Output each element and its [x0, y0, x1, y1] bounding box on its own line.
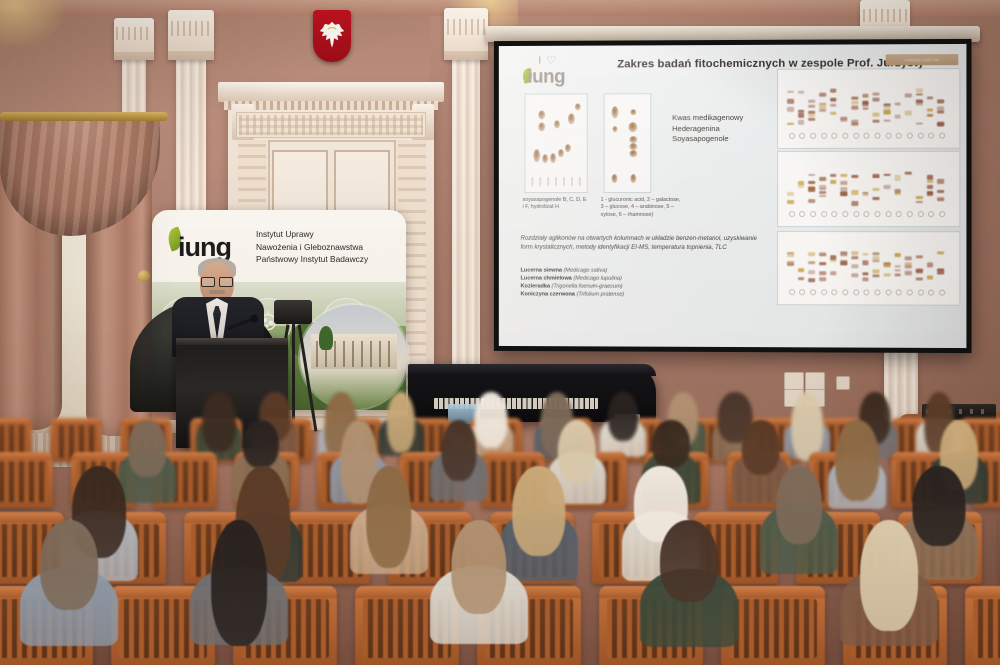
pilaster-capital-left	[114, 18, 154, 60]
chair-top-rail	[481, 452, 545, 460]
tlc-band	[798, 181, 805, 184]
chair-slats	[973, 599, 1000, 658]
presentation-slide: I ♡ iung Zakres badań fitochemicznych w …	[499, 44, 967, 348]
pilaster-capital-left-inner	[168, 10, 214, 60]
tlc-origin-dot	[821, 289, 827, 295]
tlc-band	[884, 108, 891, 113]
tlc-origin-dot	[789, 211, 795, 217]
glasses-lens-left	[201, 277, 215, 287]
tlc-band	[916, 255, 923, 258]
tlc-band	[841, 192, 848, 197]
tlc-band	[862, 261, 869, 265]
tlc-spot	[628, 122, 637, 132]
tlc-band	[894, 273, 901, 276]
tlc-spot	[558, 149, 564, 157]
banner-line: Nawożenia i Gleboznawstwa	[256, 241, 368, 254]
tlc-band	[927, 275, 934, 280]
tlc-band	[798, 91, 805, 93]
tlc-band	[884, 263, 891, 267]
tlc-band	[808, 180, 815, 184]
tlc-band	[927, 109, 934, 112]
tlc-band	[873, 197, 880, 200]
species-row: Kozieradka (Trigonella foenum-graecum)	[521, 283, 625, 291]
tlc-band	[927, 192, 934, 196]
tlc-band	[851, 201, 858, 206]
tlc-band	[905, 257, 912, 261]
door-cornice	[218, 82, 444, 102]
tlc-origin-dot	[885, 211, 891, 217]
tlc-origin-dot	[842, 211, 848, 217]
tlc-band	[819, 93, 826, 97]
tlc-origin-dot	[885, 133, 891, 139]
audience-head	[366, 466, 411, 568]
tlc-band	[819, 109, 826, 112]
tlc-band	[916, 99, 923, 103]
tlc-band	[787, 253, 794, 257]
species-name-lat: (Medicago lupulina)	[573, 276, 621, 282]
aglycone-item: Kwas medikagenowy	[672, 113, 743, 124]
tlc-band	[894, 114, 901, 118]
tlc-origin-dot	[939, 290, 945, 296]
audience-head	[608, 392, 638, 441]
tlc-band	[894, 189, 901, 193]
tlc-band	[937, 268, 944, 271]
tlc-band	[819, 104, 826, 108]
tlc-band	[873, 274, 880, 277]
video-camera	[274, 300, 312, 324]
tlc-band	[894, 253, 901, 257]
tlc-band	[830, 103, 837, 107]
chair-slats	[0, 461, 48, 502]
tlc-band	[851, 256, 858, 260]
tlc-band	[787, 107, 794, 112]
tlc-band	[819, 262, 826, 265]
audience-head	[211, 520, 267, 646]
tlc-band	[894, 265, 901, 267]
tlc-band	[851, 251, 858, 255]
audience-head	[451, 520, 506, 614]
tlc-band	[798, 113, 805, 118]
audience-member	[350, 466, 428, 585]
white-eagle-icon	[318, 19, 346, 49]
tlc-origin-dot	[842, 289, 848, 295]
species-name-lat: (Trifolium pratense)	[576, 292, 624, 298]
conference-hall-photo: I ♡ iung Zakres badań fitochemicznych w …	[0, 0, 1000, 665]
audience-member	[760, 466, 838, 585]
tlc-band	[927, 96, 934, 100]
projection-screen: I ♡ iung Zakres badań fitochemicznych w …	[494, 39, 972, 353]
tripod-leg	[298, 324, 318, 431]
tlc-band	[808, 253, 815, 256]
aglycone-item: Soyasapogenole	[672, 134, 743, 145]
tlc-spot	[568, 113, 575, 124]
tlc-band	[819, 195, 826, 197]
tlc-band	[862, 192, 869, 194]
tlc-band	[884, 103, 891, 107]
tlc-band	[873, 174, 880, 178]
chair-top-rail	[0, 418, 32, 425]
tlc-band	[841, 174, 848, 176]
tlc-spot	[629, 143, 637, 150]
tlc-origin-dot	[907, 289, 913, 295]
tlc-origin-dot	[917, 133, 923, 139]
chair	[0, 452, 53, 508]
aglycone-item: Hederagenina	[672, 123, 743, 134]
tlc-band	[851, 190, 858, 195]
tlc-band	[808, 270, 815, 274]
tlc-band	[808, 199, 815, 204]
tlc-band	[937, 190, 944, 193]
tlc-band	[905, 94, 912, 98]
tlc-origin-dot	[810, 133, 816, 139]
pilaster-center	[452, 58, 480, 388]
aglycone-list: Kwas medikagenowy Hederagenina Soyasapog…	[672, 113, 743, 145]
tlc-band	[830, 89, 837, 93]
audience-head	[835, 420, 879, 501]
tlc-origin-dot	[917, 211, 923, 217]
tlc-band	[841, 251, 848, 254]
tlc-band	[798, 110, 805, 113]
tlc-band	[819, 253, 826, 256]
tlc-band	[830, 99, 837, 102]
tlc-band	[851, 175, 858, 178]
tlc-band	[873, 259, 880, 262]
chair-top-rail	[50, 418, 102, 425]
wall-outlets[interactable]	[784, 372, 826, 390]
tlc-band	[916, 201, 923, 203]
tlc-origin-dot	[853, 133, 859, 139]
tlc-band	[808, 104, 815, 107]
tlc-band	[916, 268, 923, 272]
tlc-band	[862, 272, 869, 275]
tlc-band	[851, 273, 858, 277]
tlc-spot	[613, 126, 618, 132]
species-list: Lucerna siewna (Medicago sativa) Lucerna…	[521, 267, 625, 299]
speaker-mustache	[209, 290, 225, 294]
tlc-band	[819, 191, 826, 194]
tlc-band	[937, 99, 944, 103]
tlc-band	[798, 277, 805, 280]
tlc-origin-dot	[810, 211, 816, 217]
tlc-band	[884, 273, 891, 277]
audience-member	[190, 520, 288, 658]
banner-institute-name: Instytut Uprawy Nawożenia i Gleboznawstw…	[256, 228, 368, 266]
audience-head	[652, 420, 690, 468]
tlc-band	[905, 111, 912, 116]
tlc-band	[937, 179, 944, 184]
tlc-spot	[538, 122, 545, 131]
polish-coat-of-arms	[313, 10, 351, 62]
method-note: Rozdziały aglikonów na otwartych kolumna…	[521, 235, 769, 252]
tlc-band	[873, 269, 880, 273]
species-row: Lucerna siewna (Medicago sativa)	[521, 267, 625, 275]
slide-iung-logo: I ♡ iung	[522, 54, 605, 92]
species-name-pl: Lucerna siewna	[521, 268, 562, 274]
audience-member	[840, 520, 938, 661]
tlc-band	[851, 264, 858, 269]
tlc-band	[808, 99, 815, 103]
audience-head	[441, 420, 476, 481]
tlc-spot	[629, 136, 637, 143]
light-switch[interactable]	[836, 376, 850, 390]
tlc-spot	[630, 174, 636, 183]
tlc-spot	[612, 174, 618, 183]
caption-right: 1 - glucuronic acid, 2 – galactose, 3 – …	[601, 197, 682, 219]
species-name-pl: Lucerna chmielowa	[521, 276, 572, 282]
tlc-band	[830, 112, 837, 115]
pilaster-capital-center	[444, 8, 488, 60]
tlc-spot	[629, 150, 637, 157]
tlc-panel-b	[604, 93, 652, 193]
tlc-plate-bands	[499, 44, 967, 46]
tlc-band	[819, 277, 826, 281]
species-row: Lucerna chmielowa (Medicago lupulina)	[521, 275, 625, 283]
tlc-spot	[554, 120, 560, 128]
audience-member	[640, 520, 738, 661]
glasses-lens-right	[219, 277, 233, 287]
tlc-band	[830, 180, 837, 185]
tlc-origin-dot	[789, 133, 795, 139]
outlet-2[interactable]	[805, 372, 825, 390]
tlc-band	[927, 180, 934, 183]
tlc-band	[808, 117, 815, 120]
tlc-origin-dot	[874, 133, 880, 139]
tlc-origin-dot	[821, 133, 827, 139]
tlc-band	[873, 187, 880, 191]
tlc-band	[787, 261, 794, 266]
tlc-band	[830, 271, 837, 275]
tlc-axis-labels	[531, 177, 580, 186]
tlc-origin-dot	[907, 133, 913, 139]
glasses-icon	[201, 277, 233, 285]
tlc-band	[851, 101, 858, 104]
tlc-band	[798, 184, 805, 188]
audience-head	[243, 420, 279, 468]
tlc-band	[841, 187, 848, 191]
tlc-origin-dot	[939, 211, 945, 217]
tlc-spot	[630, 109, 636, 115]
tlc-band	[798, 120, 805, 124]
tlc-band	[937, 198, 944, 201]
tlc-band	[894, 269, 901, 271]
tlc-band	[927, 114, 934, 116]
tlc-band	[819, 271, 826, 275]
tlc-band	[862, 253, 869, 255]
tlc-band	[937, 121, 944, 126]
tlc-band	[937, 110, 944, 114]
species-row: Koniczyna czerwona (Trifolium pratense)	[521, 291, 625, 299]
tlc-band	[787, 91, 794, 93]
tlc-band	[787, 192, 794, 196]
tlc-origin-dot	[917, 290, 923, 296]
tlc-band	[862, 100, 869, 105]
slide-logo-heart: I ♡	[538, 54, 557, 67]
caption-left: soyasapogenole B, C, D, E i F, hydroliza…	[522, 197, 587, 212]
slide-corner-badge-text: Kolekcja IUNG PIB	[886, 54, 959, 65]
banner-line: Państwowy Instytut Badawczy	[256, 253, 368, 266]
tlc-spot	[542, 154, 548, 163]
tlc-band	[884, 185, 891, 189]
tlc-band	[862, 278, 869, 282]
audience-member	[20, 520, 118, 660]
tlc-band	[873, 256, 880, 260]
tlc-origin-dot	[907, 211, 913, 217]
tlc-band	[884, 119, 891, 121]
tlc-spot	[565, 144, 571, 152]
tlc-origin-dot	[885, 289, 891, 295]
tlc-band	[905, 265, 912, 269]
tlc-origin-dot	[939, 133, 945, 139]
tlc-origin-dot	[821, 211, 827, 217]
species-name-lat: (Trigonella foenum-graecum)	[552, 284, 623, 290]
tlc-band	[787, 200, 794, 205]
tlc-band	[851, 96, 858, 99]
tlc-band	[916, 93, 923, 95]
tlc-band	[787, 99, 794, 104]
audience-head	[791, 392, 823, 461]
audience-head	[776, 466, 822, 544]
tlc-band	[916, 196, 923, 199]
door-dentil-molding	[224, 101, 438, 110]
tlc-band	[808, 187, 815, 192]
tlc-origin-dot	[853, 211, 859, 217]
tlc-band	[841, 261, 848, 265]
tlc-band	[830, 174, 837, 177]
curtain-tieback	[138, 270, 150, 282]
tlc-band	[841, 180, 848, 185]
tlc-band	[916, 88, 923, 92]
tlc-band	[937, 251, 944, 254]
tlc-band	[841, 117, 848, 120]
chair-top-rail	[0, 452, 53, 460]
audience-head	[387, 392, 415, 453]
species-name-pl: Kozieradka	[521, 284, 550, 290]
chair-slats	[729, 599, 816, 658]
tlc-band	[808, 262, 815, 265]
audience-member	[430, 520, 528, 658]
tlc-spot	[575, 103, 581, 110]
tlc-band	[873, 120, 880, 123]
tlc-spot	[612, 106, 619, 118]
tlc-band	[894, 177, 901, 181]
tlc-band	[873, 93, 880, 96]
tlc-spot	[550, 153, 556, 163]
tlc-spot	[533, 149, 540, 162]
audience-head	[860, 520, 918, 631]
tlc-band	[927, 262, 934, 267]
audience-head	[202, 392, 236, 452]
tlc-origin-dot	[874, 211, 880, 217]
tlc-band	[894, 102, 901, 105]
audience-head	[660, 520, 718, 602]
tlc-band	[808, 174, 815, 176]
audience-head	[40, 520, 98, 610]
tlc-band	[884, 173, 891, 176]
door-frieze-ornament	[236, 112, 426, 138]
outlet-1[interactable]	[784, 372, 804, 390]
tlc-band	[894, 175, 901, 177]
tlc-band	[862, 93, 869, 97]
tlc-band	[830, 259, 837, 262]
tlc-origin-dot	[874, 289, 880, 295]
tlc-band	[873, 112, 880, 117]
tlc-band	[851, 106, 858, 110]
tlc-spot	[538, 110, 545, 119]
tlc-band	[905, 172, 912, 175]
tlc-panel-a	[524, 93, 587, 193]
tlc-origin-dot	[810, 289, 816, 295]
tlc-band	[916, 277, 923, 280]
tlc-band	[851, 119, 858, 124]
tlc-band	[808, 114, 815, 117]
tlc-band	[819, 185, 826, 189]
tlc-band	[808, 111, 815, 114]
tlc-band	[819, 177, 826, 181]
species-name-pl: Koniczyna czerwona	[521, 292, 575, 298]
banner-line: Instytut Uprawy	[256, 228, 368, 241]
tlc-band	[927, 185, 934, 189]
curtain-rod	[0, 112, 168, 121]
audience-member	[430, 420, 488, 510]
slide-logo-word: iung	[527, 67, 565, 89]
tlc-origin-dot	[842, 133, 848, 139]
chair-top-rail	[965, 586, 1000, 598]
chair	[965, 586, 1000, 665]
piano-lid	[408, 364, 656, 376]
tlc-band	[916, 103, 923, 105]
tlc-origin-dot	[789, 289, 795, 295]
tlc-band	[808, 278, 815, 283]
tlc-band	[798, 268, 805, 272]
tlc-origin-dot	[853, 289, 859, 295]
tlc-band	[916, 122, 923, 125]
tlc-band	[873, 98, 880, 101]
species-name-lat: (Medicago sativa)	[564, 268, 608, 274]
slide-corner-badge: Kolekcja IUNG PIB	[886, 54, 959, 65]
